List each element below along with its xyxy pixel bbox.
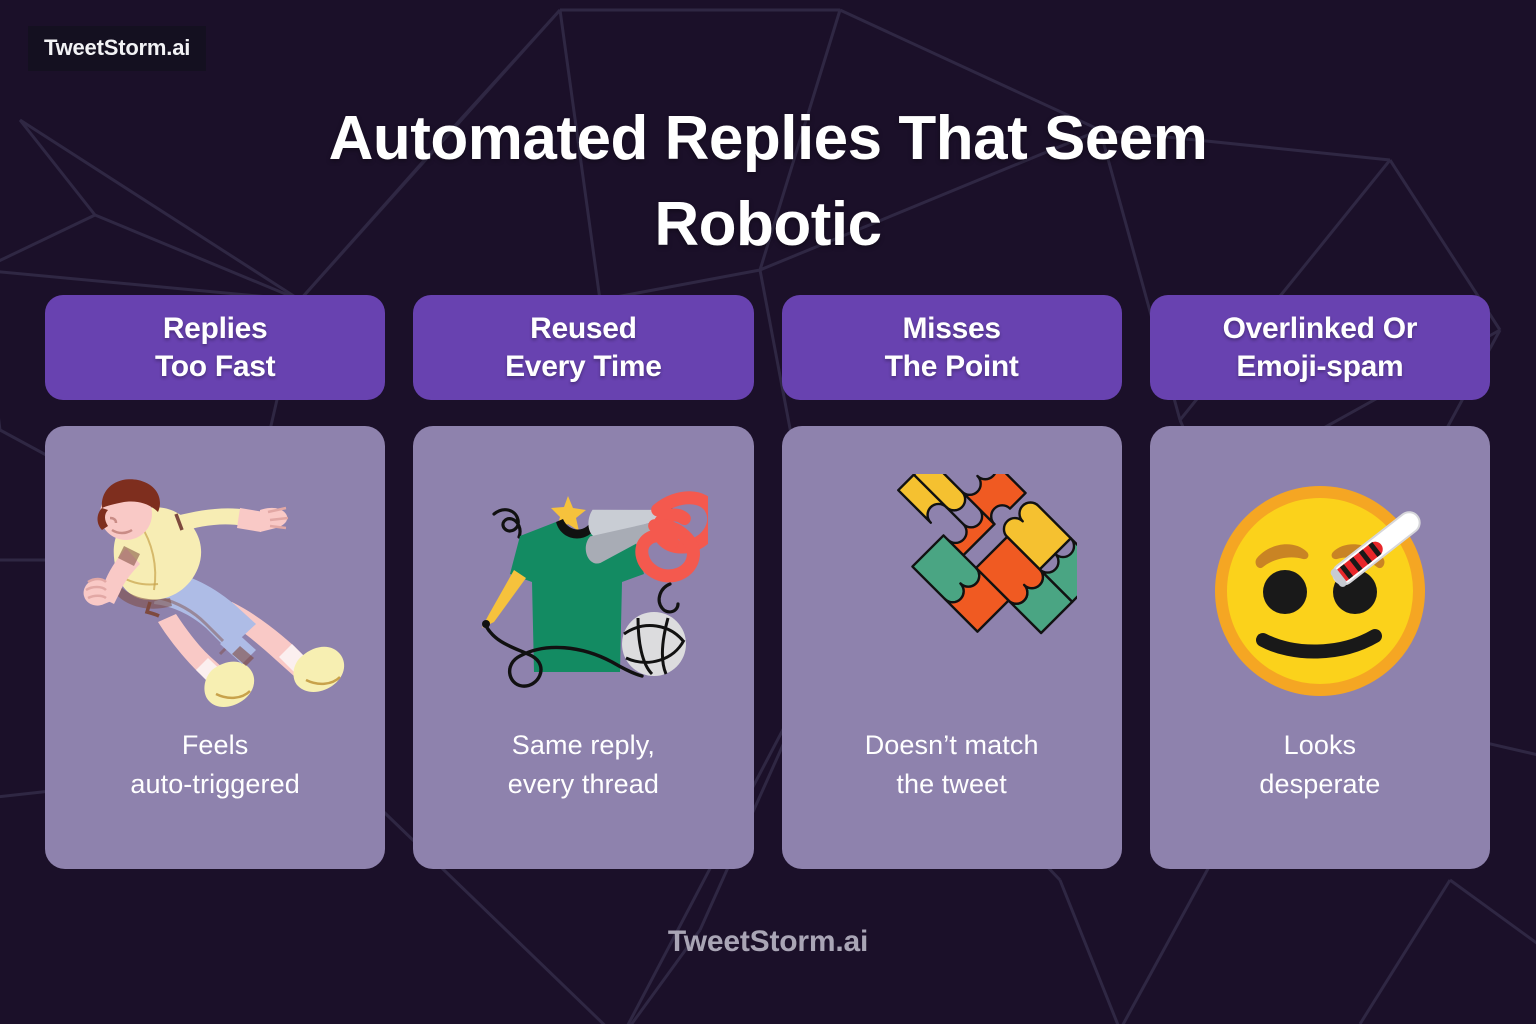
card-body-4[interactable]: Looks desperate [1150, 426, 1490, 869]
running-person-illustration [59, 456, 371, 726]
page-title-line-1: Automated Replies That Seem [0, 96, 1536, 182]
card-header-3-line-2: The Point [885, 348, 1019, 386]
card-caption-4-line-2: desperate [1259, 765, 1380, 803]
card-column-2: Reused Every Time [413, 295, 753, 869]
cards-grid: Replies Too Fast [45, 295, 1490, 869]
card-caption-3-line-2: the tweet [865, 765, 1039, 803]
card-column-4: Overlinked Or Emoji-spam [1150, 295, 1490, 869]
card-caption-4-line-1: Looks [1259, 726, 1380, 764]
puzzle-pieces-illustration [796, 456, 1108, 726]
card-header-1[interactable]: Replies Too Fast [45, 295, 385, 400]
card-caption-2-line-1: Same reply, [508, 726, 659, 764]
card-header-2-line-2: Every Time [505, 348, 662, 386]
card-header-3[interactable]: Misses The Point [782, 295, 1122, 400]
card-caption-2-line-2: every thread [508, 765, 659, 803]
card-body-2[interactable]: Same reply, every thread [413, 426, 753, 869]
card-caption-3: Doesn’t match the tweet [865, 726, 1039, 803]
card-caption-1-line-1: Feels [130, 726, 300, 764]
card-caption-1: Feels auto-triggered [130, 726, 300, 803]
card-header-4[interactable]: Overlinked Or Emoji-spam [1150, 295, 1490, 400]
card-column-1: Replies Too Fast [45, 295, 385, 869]
card-caption-2: Same reply, every thread [508, 726, 659, 803]
page-title-line-2: Robotic [0, 182, 1536, 268]
card-header-1-line-2: Too Fast [155, 348, 275, 386]
card-header-4-line-1: Overlinked Or [1223, 310, 1418, 348]
card-header-4-line-2: Emoji-spam [1236, 348, 1403, 386]
face-with-thermometer-emoji [1164, 456, 1476, 726]
card-header-3-line-1: Misses [902, 310, 1000, 348]
card-header-2[interactable]: Reused Every Time [413, 295, 753, 400]
card-header-1-line-1: Replies [163, 310, 268, 348]
card-caption-3-line-1: Doesn’t match [865, 726, 1039, 764]
brand-logo-text: TweetStorm.ai [44, 35, 190, 61]
card-header-2-line-1: Reused [530, 310, 637, 348]
card-caption-1-line-2: auto-triggered [130, 765, 300, 803]
footer-brand: TweetStorm.ai [0, 925, 1536, 959]
page-title: Automated Replies That Seem Robotic [0, 96, 1536, 267]
card-column-3: Misses The Point [782, 295, 1122, 869]
card-caption-4: Looks desperate [1259, 726, 1380, 803]
tshirt-sewing-illustration [427, 456, 739, 726]
brand-logo-badge: TweetStorm.ai [28, 26, 206, 71]
card-body-1[interactable]: Feels auto-triggered [45, 426, 385, 869]
card-body-3[interactable]: Doesn’t match the tweet [782, 426, 1122, 869]
